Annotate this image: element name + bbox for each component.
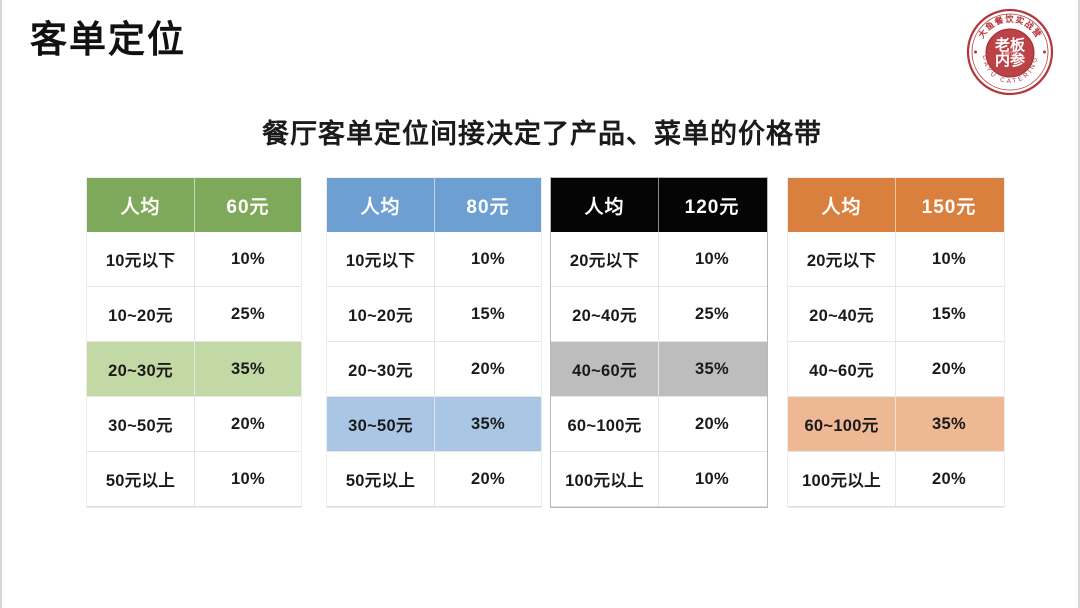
table-row: 20~30元35% — [87, 342, 301, 397]
price-range-cell: 20~40元 — [788, 287, 896, 341]
table-row: 40~60元35% — [551, 342, 767, 397]
page-title: 客单定位 — [30, 18, 186, 62]
share-percent-cell: 35% — [195, 342, 301, 396]
table-header-row: 人均150元 — [788, 178, 1004, 232]
share-percent-cell: 35% — [896, 397, 1002, 451]
table-row: 20元以下10% — [788, 232, 1004, 287]
table-header-row: 人均120元 — [551, 178, 767, 232]
price-range-cell: 60~100元 — [551, 397, 659, 451]
share-percent-cell: 20% — [435, 452, 541, 506]
price-range-cell: 10~20元 — [87, 287, 195, 341]
header-label: 人均 — [788, 178, 896, 232]
price-range-cell: 10元以下 — [327, 232, 435, 286]
price-range-cell: 100元以上 — [551, 452, 659, 506]
header-label: 人均 — [551, 178, 659, 232]
price-range-cell: 10元以下 — [87, 232, 195, 286]
table-150: 人均150元20元以下10%20~40元15%40~60元20%60~100元3… — [788, 178, 1004, 507]
svg-text:餐饮: 餐饮 — [1004, 50, 1016, 58]
table-120: 人均120元20元以下10%20~40元25%40~60元35%60~100元2… — [551, 178, 767, 507]
table-row: 60~100元20% — [551, 397, 767, 452]
table-60: 人均60元10元以下10%10~20元25%20~30元35%30~50元20%… — [87, 178, 301, 507]
table-row: 20~40元15% — [788, 287, 1004, 342]
share-percent-cell: 20% — [659, 397, 765, 451]
price-range-cell: 20~30元 — [87, 342, 195, 396]
header-label: 人均 — [327, 178, 435, 232]
price-range-cell: 20元以下 — [788, 232, 896, 286]
price-range-cell: 50元以上 — [87, 452, 195, 506]
share-percent-cell: 10% — [195, 452, 301, 506]
share-percent-cell: 15% — [435, 287, 541, 341]
table-header-row: 人均60元 — [87, 178, 301, 232]
share-percent-cell: 10% — [659, 232, 765, 286]
price-range-cell: 60~100元 — [788, 397, 896, 451]
slide-subtitle: 餐厅客单定位间接决定了产品、菜单的价格带 — [2, 112, 1080, 151]
price-range-cell: 30~50元 — [87, 397, 195, 451]
share-percent-cell: 10% — [435, 232, 541, 286]
slide: 客单定位 大鱼餐饮实战营 DAYU CATERING 老板 内参 餐饮 餐厅客单… — [0, 0, 1080, 608]
table-header-row: 人均80元 — [327, 178, 541, 232]
price-range-cell: 20~30元 — [327, 342, 435, 396]
header-value: 80元 — [435, 178, 541, 232]
table-row: 30~50元35% — [327, 397, 541, 452]
table-row: 40~60元20% — [788, 342, 1004, 397]
price-range-cell: 50元以上 — [327, 452, 435, 506]
header-value: 60元 — [195, 178, 301, 232]
header-value: 150元 — [896, 178, 1002, 232]
table-row: 10~20元25% — [87, 287, 301, 342]
table-row: 10~20元15% — [327, 287, 541, 342]
table-80: 人均80元10元以下10%10~20元15%20~30元20%30~50元35%… — [327, 178, 541, 507]
price-range-cell: 30~50元 — [327, 397, 435, 451]
share-percent-cell: 10% — [195, 232, 301, 286]
share-percent-cell: 25% — [659, 287, 765, 341]
share-percent-cell: 20% — [195, 397, 301, 451]
table-row: 100元以上10% — [551, 452, 767, 507]
share-percent-cell: 25% — [195, 287, 301, 341]
share-percent-cell: 10% — [896, 232, 1002, 286]
share-percent-cell: 20% — [435, 342, 541, 396]
dayu-catering-seal-logo: 大鱼餐饮实战营 DAYU CATERING 老板 内参 餐饮 — [964, 6, 1056, 98]
price-range-cell: 20~40元 — [551, 287, 659, 341]
share-percent-cell: 35% — [435, 397, 541, 451]
share-percent-cell: 35% — [659, 342, 765, 396]
table-row: 60~100元35% — [788, 397, 1004, 452]
price-range-cell: 20元以下 — [551, 232, 659, 286]
table-row: 20~40元25% — [551, 287, 767, 342]
table-row: 20~30元20% — [327, 342, 541, 397]
share-percent-cell: 15% — [896, 287, 1002, 341]
header-value: 120元 — [659, 178, 765, 232]
price-band-tables: 人均60元10元以下10%10~20元25%20~30元35%30~50元20%… — [2, 178, 1080, 508]
table-row: 20元以下10% — [551, 232, 767, 287]
price-range-cell: 10~20元 — [327, 287, 435, 341]
share-percent-cell: 20% — [896, 452, 1002, 506]
price-range-cell: 100元以上 — [788, 452, 896, 506]
share-percent-cell: 20% — [896, 342, 1002, 396]
table-row: 30~50元20% — [87, 397, 301, 452]
price-range-cell: 40~60元 — [788, 342, 896, 396]
price-range-cell: 40~60元 — [551, 342, 659, 396]
table-row: 10元以下10% — [87, 232, 301, 287]
table-row: 50元以上10% — [87, 452, 301, 507]
header-label: 人均 — [87, 178, 195, 232]
share-percent-cell: 10% — [659, 452, 765, 506]
table-row: 100元以上20% — [788, 452, 1004, 507]
table-row: 10元以下10% — [327, 232, 541, 287]
table-row: 50元以上20% — [327, 452, 541, 507]
